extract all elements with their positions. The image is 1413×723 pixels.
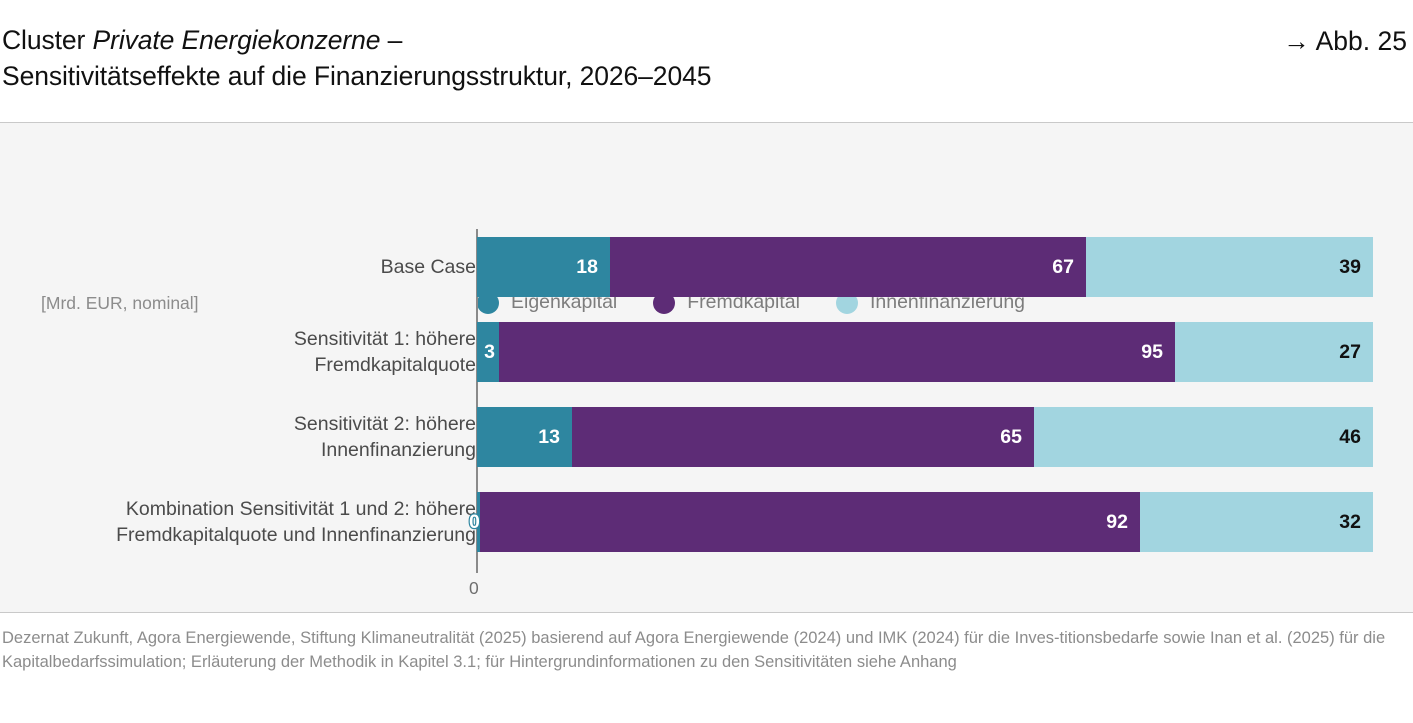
bar-row: Sensitivität 2: höhere Innenfinanzierung <box>0 407 477 467</box>
bar-segment-innenfinanzierung[interactable]: 27 <box>1175 322 1373 382</box>
title-line2: Sensitivitätseffekte auf die Finanzierun… <box>2 61 711 91</box>
bar-row-bars: 0 92 32 <box>477 492 1373 552</box>
bar-value-label: 95 <box>1141 341 1175 364</box>
title-line1-italic: Private Energiekonzerne <box>93 25 381 55</box>
bar-segment-eigenkapital[interactable]: 13 <box>477 407 572 467</box>
x-axis-tick-label: 0 <box>469 578 479 599</box>
bar-row-label: Sensitivität 2: höhere Innenfinanzierung <box>36 411 476 463</box>
bar-row-label: Kombination Sensitivität 1 und 2: höhere… <box>36 496 476 548</box>
bar-segment-fremdkapital[interactable]: 67 <box>610 237 1086 297</box>
bar-value-label: 67 <box>1052 256 1086 279</box>
title-line1-prefix: Cluster <box>2 25 93 55</box>
bar-value-label: 32 <box>1339 511 1373 534</box>
plot-area: 0 Base Case 18 67 39 Sensitivität 1: höh… <box>0 123 1413 612</box>
bar-value-label: 13 <box>538 426 572 449</box>
source-footnote: Dezernat Zukunft, Agora Energiewende, St… <box>2 626 1406 674</box>
bar-value-label: 65 <box>1000 426 1034 449</box>
bar-value-label: 92 <box>1106 511 1140 534</box>
bar-segment-eigenkapital[interactable]: 3 <box>477 322 499 382</box>
title-line1-suffix: – <box>380 25 402 55</box>
bar-row-bars: 3 95 27 <box>477 322 1373 382</box>
bar-row: Kombination Sensitivität 1 und 2: höhere… <box>0 492 477 552</box>
bar-value-label: 27 <box>1339 341 1373 364</box>
footer-divider <box>0 612 1413 613</box>
bar-segment-fremdkapital[interactable]: 92 <box>480 492 1140 552</box>
bar-row: Base Case <box>0 237 477 297</box>
bar-segment-innenfinanzierung[interactable]: 39 <box>1086 237 1373 297</box>
bar-value-label: 46 <box>1339 426 1373 449</box>
bar-value-label: 0 <box>469 511 480 534</box>
bar-row-bars: 13 65 46 <box>477 407 1373 467</box>
figure-reference: → Abb. 25 <box>1283 24 1407 58</box>
figure-page: Cluster Private Energiekonzerne – Sensit… <box>0 0 1413 723</box>
bar-value-label: 18 <box>576 256 610 279</box>
bar-row-label: Base Case <box>36 254 476 280</box>
bar-value-label: 3 <box>484 341 499 364</box>
bar-segment-innenfinanzierung[interactable]: 32 <box>1140 492 1373 552</box>
page-title: Cluster Private Energiekonzerne – Sensit… <box>2 22 1132 94</box>
chart-panel: [Mrd. EUR, nominal] Eigenkapital Fremdka… <box>0 123 1413 612</box>
bar-segment-innenfinanzierung[interactable]: 46 <box>1034 407 1373 467</box>
bar-segment-fremdkapital[interactable]: 65 <box>572 407 1034 467</box>
bar-segment-eigenkapital[interactable]: 18 <box>477 237 610 297</box>
bar-row-bars: 18 67 39 <box>477 237 1373 297</box>
bar-row: Sensitivität 1: höhere Fremdkapitalquote <box>0 322 477 382</box>
bar-row-label: Sensitivität 1: höhere Fremdkapitalquote <box>36 326 476 378</box>
figure-header: Cluster Private Energiekonzerne – Sensit… <box>0 0 1413 122</box>
bar-value-label: 39 <box>1339 256 1373 279</box>
bar-segment-fremdkapital[interactable]: 95 <box>499 322 1175 382</box>
